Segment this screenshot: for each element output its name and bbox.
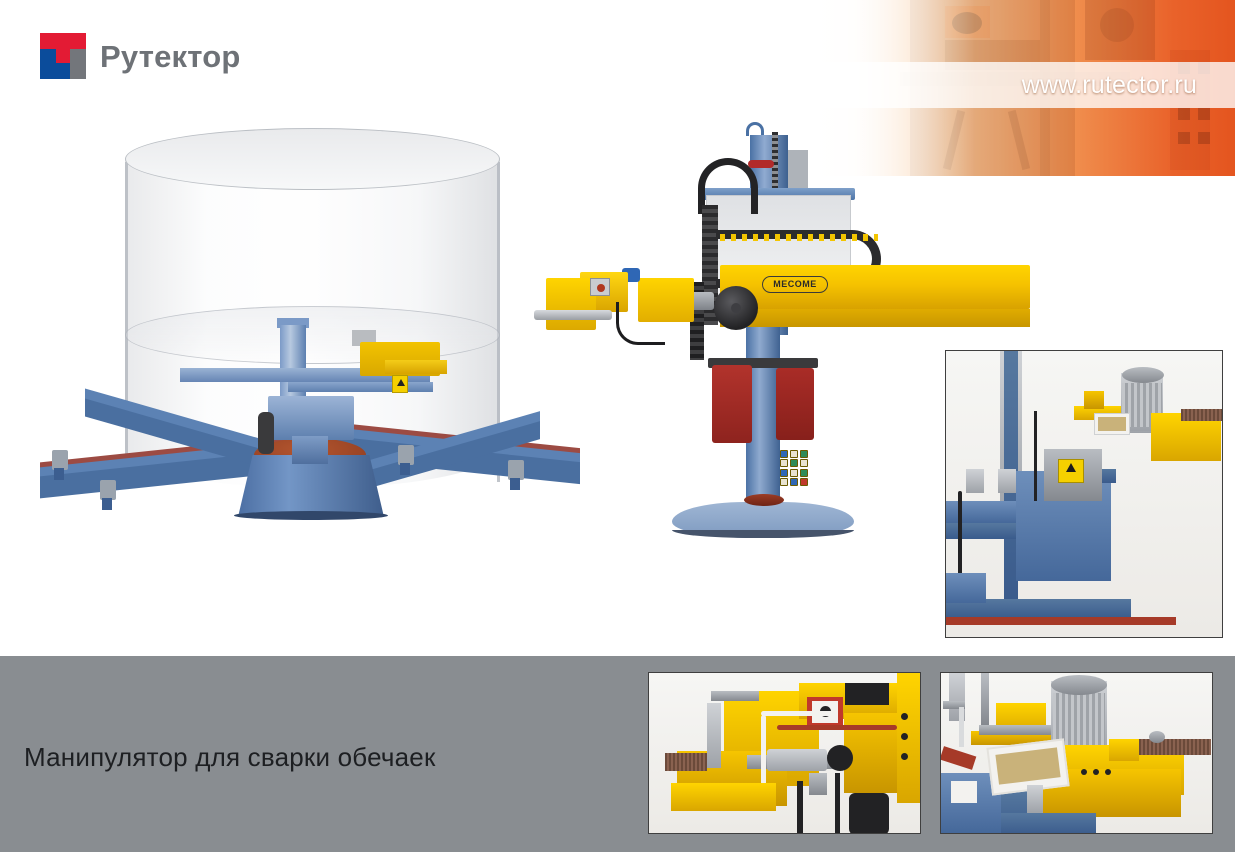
photo-welding-head-detail[interactable] [648, 672, 921, 834]
control-button-4[interactable] [790, 450, 798, 458]
welding-head-mount [546, 278, 596, 330]
control-button-9[interactable] [790, 459, 798, 467]
photo-column-head-right[interactable] [945, 350, 1223, 638]
rotary-base-cone [238, 455, 384, 517]
control-button-5[interactable] [800, 450, 808, 458]
rotation-bearing [744, 494, 784, 506]
slide-caption: Манипулятор для сварки обечаек [24, 742, 436, 773]
rutector-logo-icon [40, 33, 86, 79]
clamp-sw [100, 480, 116, 500]
welding-torch [534, 310, 612, 320]
arm-brand-badge: MECOME [762, 276, 828, 293]
clamp-w [52, 450, 68, 470]
control-button-14[interactable] [790, 469, 798, 477]
inner-carriage [268, 396, 354, 440]
control-button-15[interactable] [800, 469, 808, 477]
control-button-13[interactable] [780, 469, 788, 477]
lifting-hook [746, 122, 764, 136]
render-rotary-table [30, 120, 590, 570]
welding-power-source-left [712, 365, 752, 443]
control-button-3[interactable] [780, 450, 788, 458]
control-button-19[interactable] [790, 478, 798, 486]
render-column-manipulator: MECOME [520, 110, 950, 580]
control-button-8[interactable] [780, 459, 788, 467]
site-url[interactable]: www.rutector.ru [1022, 62, 1197, 108]
brand-logo[interactable]: Рутектор [40, 33, 240, 79]
photo-grinder-motor-detail[interactable] [940, 672, 1213, 834]
presentation-slide: Рутектор www.rutector.ru [0, 0, 1235, 852]
inner-torch [258, 412, 274, 454]
brand-name: Рутектор [100, 41, 240, 72]
control-button-20[interactable] [800, 478, 808, 486]
product-illustrations: MECOME [0, 110, 1235, 656]
control-button-10[interactable] [800, 459, 808, 467]
wire-feed-hose [616, 302, 665, 345]
handwheel[interactable] [714, 286, 758, 330]
head-dial[interactable] [590, 278, 610, 296]
welding-power-source-right [776, 368, 814, 440]
control-button-18[interactable] [780, 478, 788, 486]
warning-triangle-icon [392, 375, 408, 393]
clamp-ne [398, 445, 414, 465]
